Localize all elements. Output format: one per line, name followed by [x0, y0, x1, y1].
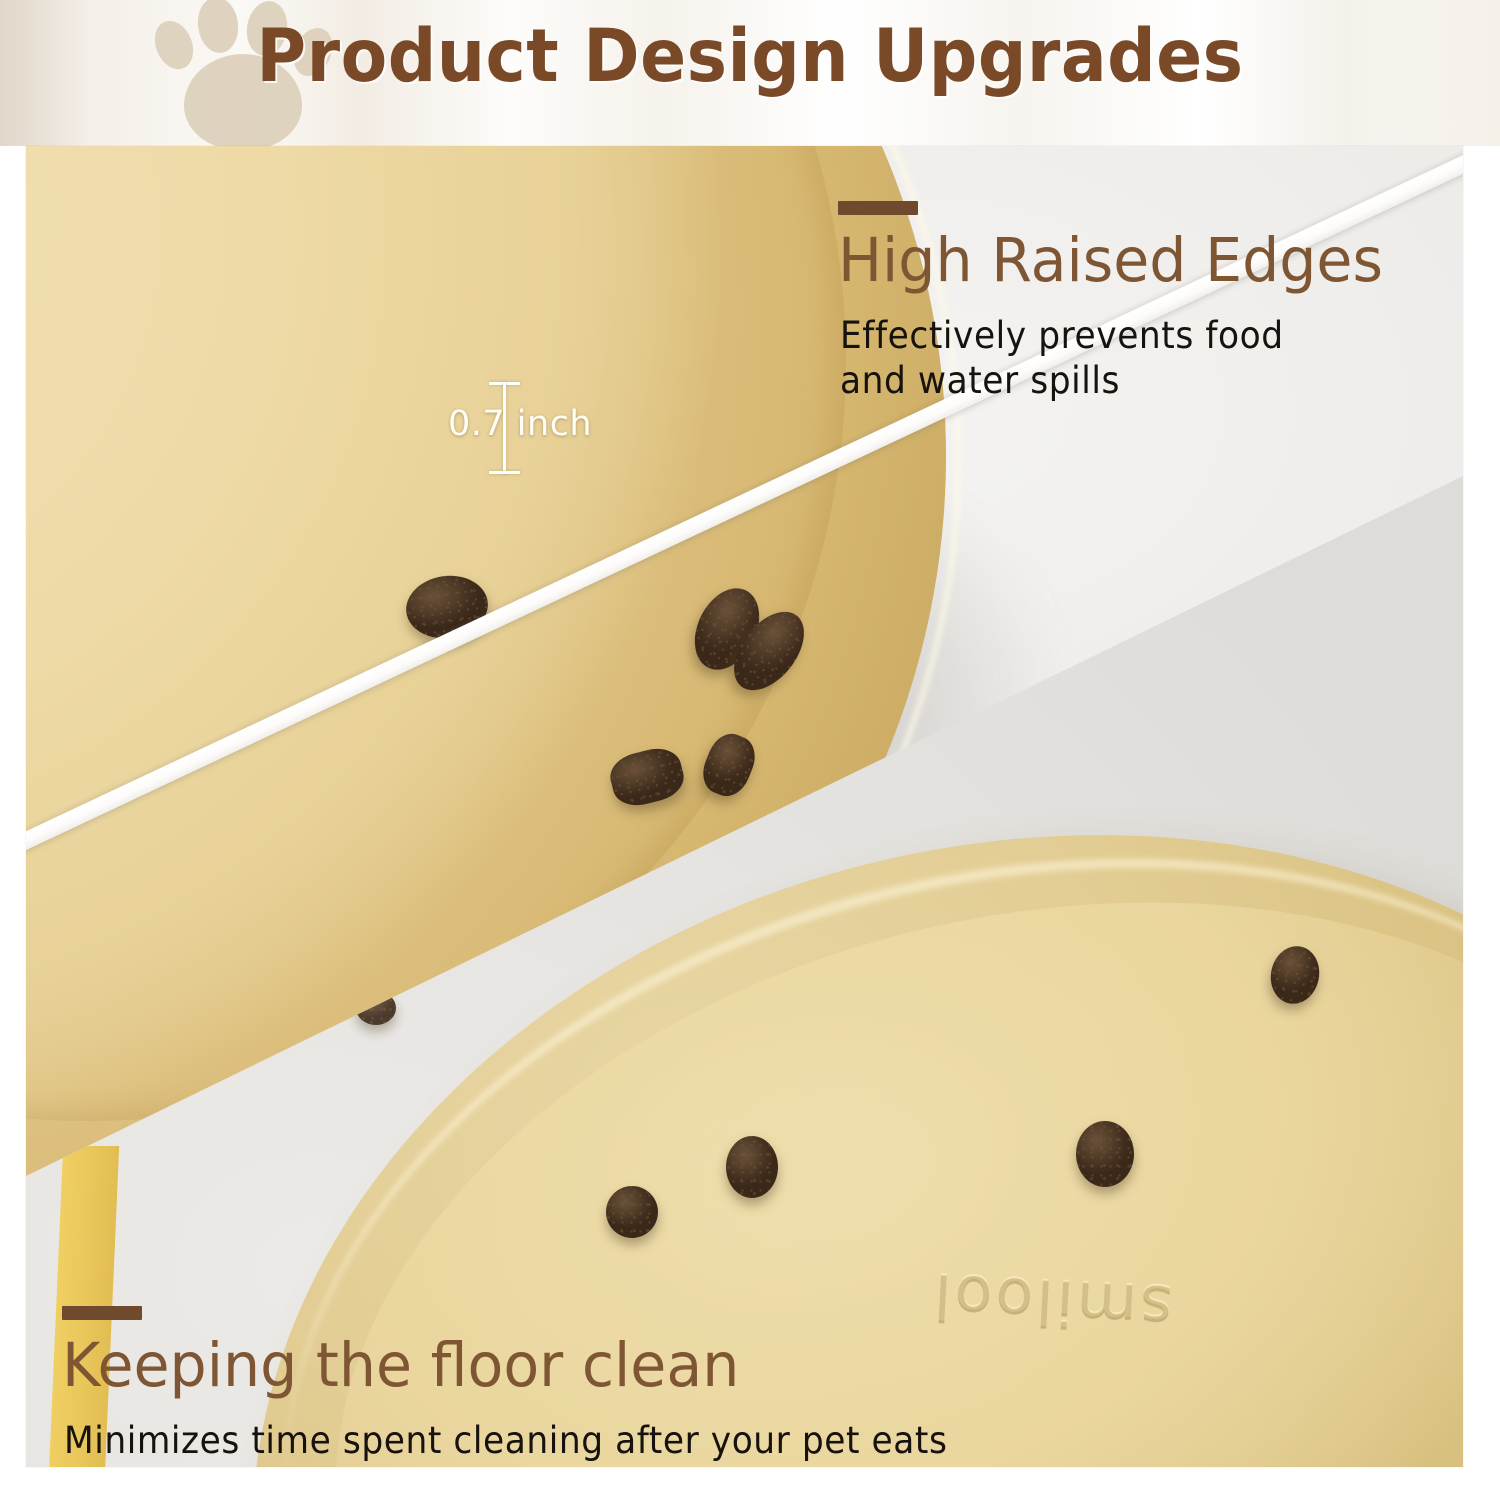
feature-subtitle: Effectively prevents food and water spil… — [840, 313, 1435, 403]
feature-subtitle-line: Effectively prevents food — [840, 313, 1435, 358]
feature-subtitle-line: and water spills — [840, 358, 1435, 403]
accent-bar — [62, 1306, 142, 1320]
product-infographic: Product Design Upgrades 0.7 inch — [0, 0, 1500, 1500]
kibble-piece — [1076, 1121, 1134, 1187]
feature-title: Keeping the floor clean — [62, 1330, 739, 1401]
feature-title: High Raised Edges — [838, 225, 1383, 296]
dimension-cap-bottom — [489, 471, 520, 474]
kibble-piece — [726, 1136, 778, 1198]
header-banner: Product Design Upgrades — [0, 0, 1500, 146]
accent-bar — [838, 201, 918, 215]
page-title: Product Design Upgrades — [53, 14, 1448, 99]
feature-subtitle: Minimizes time spent cleaning after your… — [64, 1418, 1161, 1463]
kibble-piece — [606, 1186, 658, 1238]
dimension-label: 0.7 inch — [448, 404, 592, 444]
brand-emboss: smilool — [929, 1260, 1174, 1346]
